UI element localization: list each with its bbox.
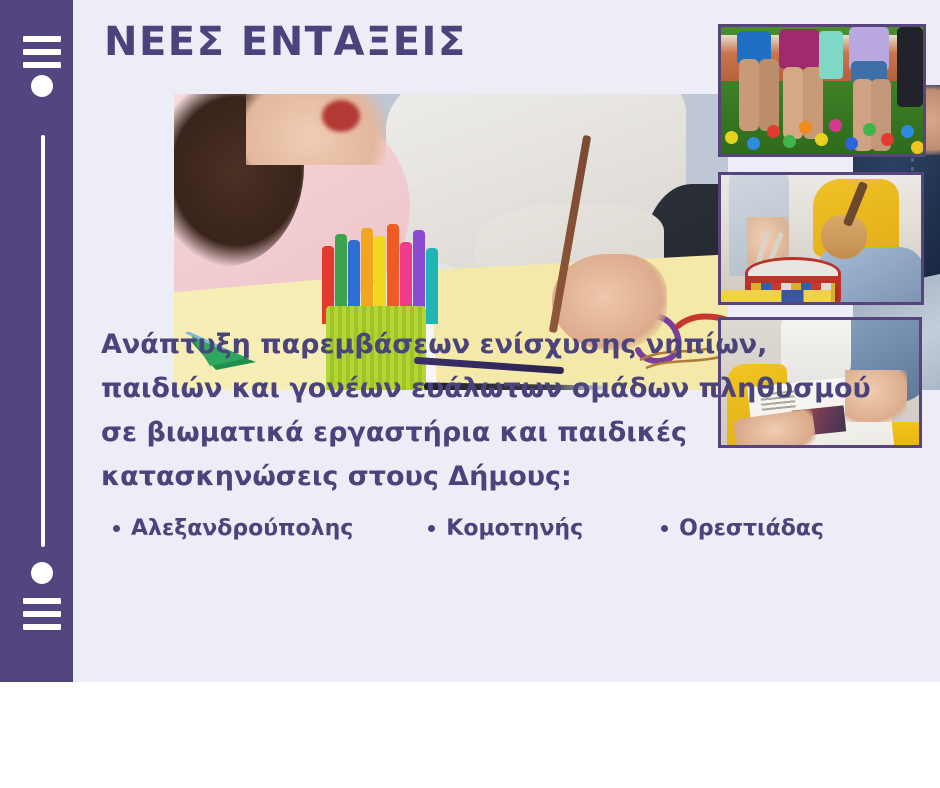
adult-legs: [897, 27, 923, 107]
sidebar-bar: [23, 598, 61, 604]
child-mouth: [322, 100, 360, 132]
sidebar-bar: [23, 62, 61, 68]
sidebar-dot-top: [31, 75, 53, 97]
ball: [767, 125, 780, 138]
municipality-list: Αλεξανδρούπολης Κομοτηνής Ορεστιάδας: [113, 516, 913, 541]
photo-children-music: [718, 172, 924, 305]
list-item-label: Ορεστιάδας: [679, 516, 824, 541]
child-leg: [759, 59, 779, 131]
photo-content: [721, 27, 923, 154]
floor-ribbon: [721, 290, 831, 302]
child-face: [246, 94, 386, 165]
list-item-label: Κομοτηνής: [446, 516, 583, 541]
bullet-dot-icon: [428, 525, 435, 532]
child-dress: [819, 31, 843, 79]
content-panel: ΝΕΕΣ ΕΝΤΑΞΕΙΣ: [73, 0, 940, 682]
list-item: Ορεστιάδας: [661, 516, 824, 541]
sidebar-bars-top: [23, 36, 61, 68]
poster-root: ΝΕΕΣ ΕΝΤΑΞΕΙΣ: [0, 0, 940, 788]
bullet-dot-icon: [661, 525, 668, 532]
ball: [901, 125, 914, 138]
child-skirt: [779, 29, 819, 69]
sidebar-decoration: [0, 0, 73, 682]
ball: [799, 121, 812, 134]
ball: [863, 123, 876, 136]
ball: [881, 133, 894, 146]
child-leg: [739, 59, 759, 131]
sidebar-vertical-line: [41, 135, 45, 547]
body-text: Ανάπτυξη παρεμβάσεων ενίσχυσης νηπίων, π…: [101, 323, 891, 499]
ball: [829, 119, 842, 132]
ball: [911, 141, 923, 154]
sidebar-bar: [23, 36, 61, 42]
photo-children-playing-balls: [718, 24, 926, 157]
sidebar-bar: [23, 49, 61, 55]
sidebar-dot-bottom: [31, 562, 53, 584]
ball: [783, 135, 796, 148]
ball: [845, 137, 858, 150]
page-title: ΝΕΕΣ ΕΝΤΑΞΕΙΣ: [104, 19, 467, 65]
photo-content: [721, 175, 921, 302]
sidebar-bars-bottom: [23, 598, 61, 630]
list-item-label: Αλεξανδρούπολης: [131, 516, 353, 541]
list-item: Αλεξανδρούπολης: [113, 516, 353, 541]
bullet-dot-icon: [113, 525, 120, 532]
sidebar-bar: [23, 611, 61, 617]
list-item: Κομοτηνής: [428, 516, 583, 541]
footer: ΠΕΡΙΦΕΡΕΙΑ ΑΝΑΤΟΛΙΚΗΣ ΜΑΚΕΔΟΝΙΑΣ ΘΡΑΚΗΣ …: [0, 682, 940, 788]
ball: [815, 133, 828, 146]
sidebar-bar: [23, 624, 61, 630]
ball: [725, 131, 738, 144]
ball: [747, 137, 760, 150]
